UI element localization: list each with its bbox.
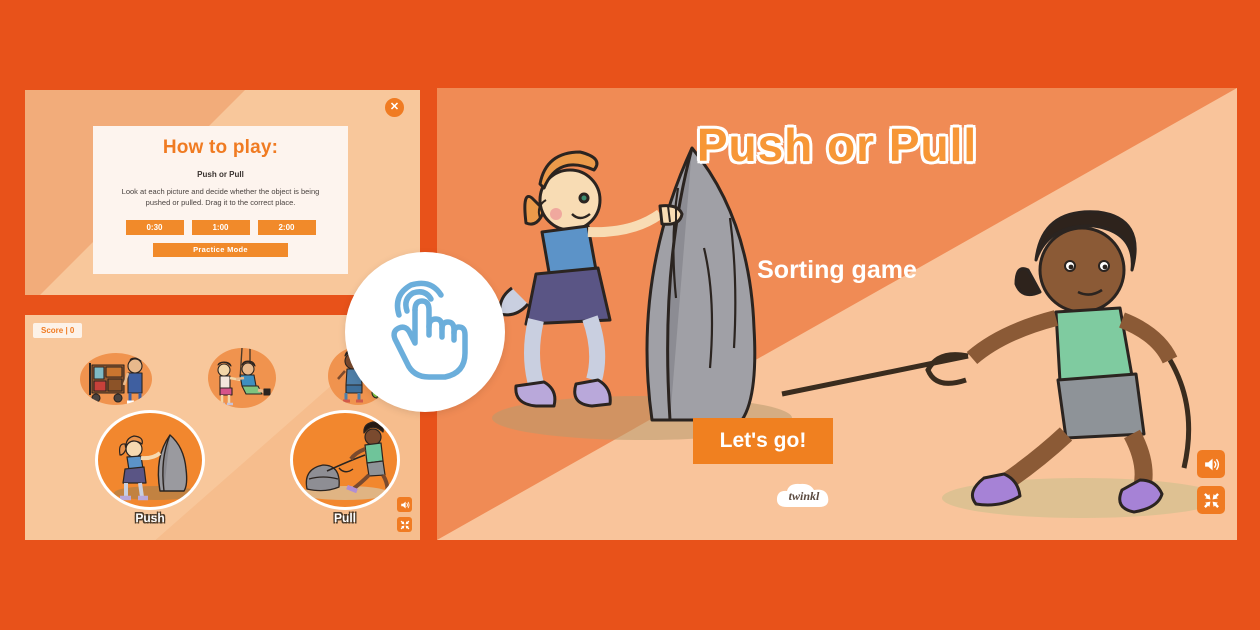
main-game-panel: Push or Pull Sorting game Let's go! twin…	[437, 88, 1237, 540]
brand-name: twinkl	[774, 489, 834, 504]
list-item[interactable]	[80, 353, 152, 405]
timer-option-30s[interactable]: 0:30	[126, 220, 184, 235]
how-to-play-modal: How to play: Push or Pull Look at each p…	[93, 126, 348, 274]
modal-instructions: Look at each picture and decide whether …	[121, 187, 321, 209]
volume-button[interactable]	[1197, 450, 1225, 478]
fullscreen-exit-button[interactable]	[1197, 486, 1225, 514]
page-subtitle: Sorting game	[437, 256, 1237, 285]
timer-options: 0:30 1:00 2:00	[126, 220, 316, 235]
volume-button[interactable]	[397, 497, 412, 512]
cursor-overlay	[345, 252, 505, 412]
push-illustration	[492, 128, 782, 448]
swing-push-icon	[208, 348, 276, 408]
screenshot-stage: ✕ How to play: Push or Pull Look at each…	[0, 0, 1260, 630]
drop-zone-label-pull: Pull	[290, 511, 400, 525]
push-rock-icon	[98, 413, 205, 510]
modal-subtitle: Push or Pull	[197, 170, 244, 179]
timer-option-2m[interactable]: 2:00	[258, 220, 316, 235]
luggage-cart-icon	[80, 353, 152, 405]
drop-zone-push[interactable]	[95, 410, 205, 510]
collapse-icon	[1203, 492, 1220, 509]
score-badge: Score | 0	[33, 323, 82, 338]
fullscreen-exit-button[interactable]	[397, 517, 412, 532]
twinkl-logo: twinkl	[774, 481, 834, 511]
tap-hand-icon	[375, 277, 475, 387]
modal-title: How to play:	[163, 137, 278, 159]
speaker-icon	[400, 500, 410, 510]
lets-go-button[interactable]: Let's go!	[693, 418, 833, 464]
close-icon[interactable]: ✕	[383, 96, 406, 119]
timer-option-1m[interactable]: 1:00	[192, 220, 250, 235]
list-item[interactable]	[208, 348, 276, 408]
speaker-icon	[1203, 456, 1220, 473]
practice-mode-button[interactable]: Practice Mode	[153, 243, 288, 257]
left-panel-top: ✕ How to play: Push or Pull Look at each…	[25, 90, 420, 295]
page-title: Push or Pull	[437, 118, 1237, 172]
drop-zone-label-push: Push	[95, 511, 205, 525]
drop-zone-pull[interactable]	[290, 410, 400, 510]
collapse-icon	[400, 520, 410, 530]
